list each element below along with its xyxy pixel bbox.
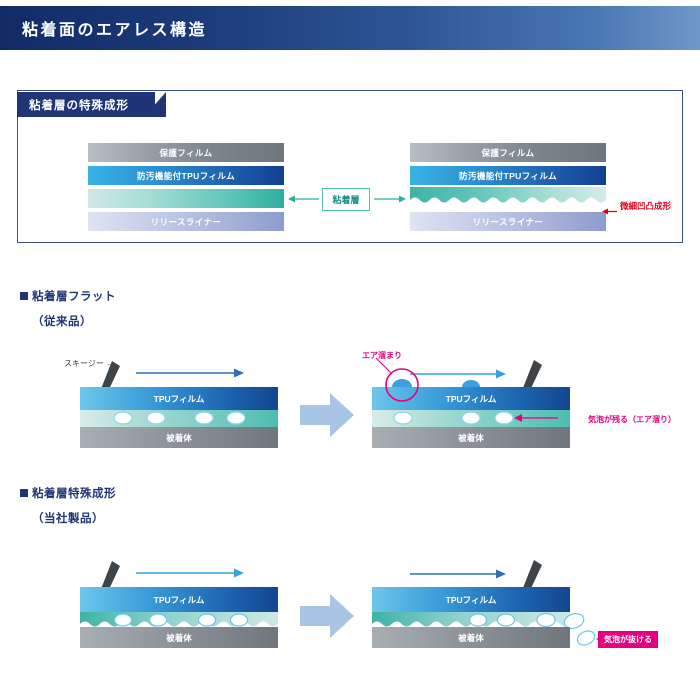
tpu-label: TPUフィルム — [446, 394, 497, 404]
layer-protective-film: 保護フィルム — [410, 143, 606, 162]
tpu-label: TPUフィルム — [154, 595, 205, 605]
diagram-flat-before: TPUフィルム 被着体 — [78, 356, 288, 451]
adhesive-layer-label-box: 粘着層 — [322, 188, 370, 211]
arrow-right-teal — [374, 194, 406, 204]
callout-bubbles-escape: 気泡が抜ける — [598, 631, 658, 648]
structure-panel-tab: 粘着層の特殊成形 — [17, 92, 155, 117]
diagram-flat-after: TPUフィルム 被着体 — [370, 356, 580, 451]
section-heading-flat-line1: 粘着層フラット — [32, 291, 116, 303]
layer-adhesive-textured — [410, 189, 606, 206]
section-heading-textured: 粘着層特殊成形 （当社製品） — [20, 485, 116, 526]
arrow-red-annotation — [602, 203, 618, 221]
layer-protective-film: 保護フィルム — [88, 143, 284, 162]
section-heading-flat: 粘着層フラット （従来品） — [20, 288, 116, 329]
layer-release-liner: リリースライナー — [410, 212, 606, 231]
arrow-left-teal — [288, 194, 320, 204]
callout-air-pocket: エア溜まり — [362, 350, 402, 361]
layer-adhesive-flat — [88, 189, 284, 208]
annotation-micro-texture: 微細凹凸成形 — [620, 200, 671, 212]
section-heading-textured-line1: 粘着層特殊成形 — [32, 488, 116, 500]
layer-tpu-film: 防汚機能付TPUフィルム — [410, 166, 606, 185]
callout-bubbles-remain: 気泡が残る（エア溜り） — [588, 414, 676, 425]
layer-stack-left: 保護フィルム 防汚機能付TPUフィルム リリースライナー — [88, 143, 284, 235]
substrate-label: 被着体 — [166, 633, 192, 643]
substrate-label: 被着体 — [458, 633, 484, 643]
layer-stack-right: 保護フィルム 防汚機能付TPUフィルム リリースライナー — [410, 143, 606, 235]
diagram-textured-after: TPUフィルム 被着体 — [370, 556, 620, 651]
layer-tpu-film: 防汚機能付TPUフィルム — [88, 166, 284, 185]
diagram-textured-before: TPUフィルム 被着体 — [78, 556, 288, 651]
tpu-label: TPUフィルム — [154, 394, 205, 404]
diagram-page: 粘着面のエアレス構造 粘着層の特殊成形 保護フィルム 防汚機能付TPUフィルム … — [0, 0, 700, 700]
block-arrow-flat — [300, 393, 354, 437]
page-title: 粘着面のエアレス構造 — [22, 16, 207, 40]
block-arrow-textured — [300, 594, 354, 638]
section-heading-flat-line2: （従来品） — [32, 313, 116, 329]
layer-release-liner: リリースライナー — [88, 212, 284, 231]
tpu-label: TPUフィルム — [446, 595, 497, 605]
substrate-label: 被着体 — [166, 433, 192, 443]
bullet-square-icon — [20, 489, 28, 497]
section-heading-textured-line2: （当社製品） — [32, 510, 116, 526]
bullet-square-icon — [20, 292, 28, 300]
substrate-label: 被着体 — [458, 433, 484, 443]
